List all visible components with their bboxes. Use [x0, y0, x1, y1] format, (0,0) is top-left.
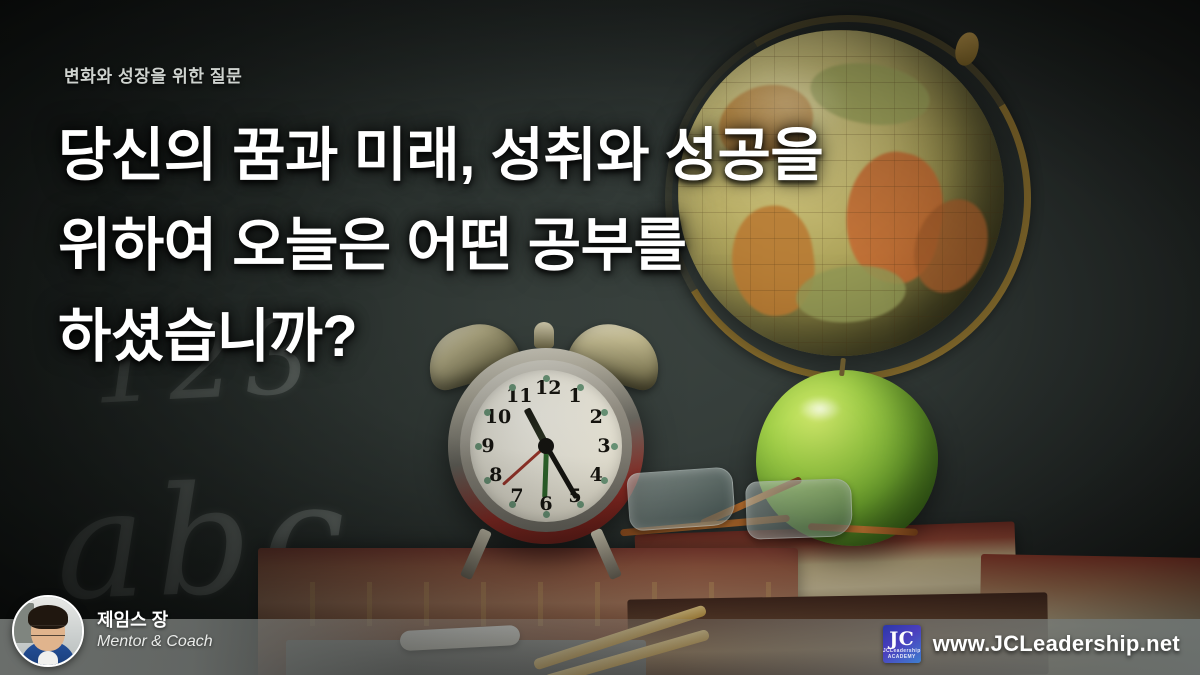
- clock-hour-dot: [601, 477, 608, 484]
- clock-hour-dot: [475, 443, 482, 450]
- headline-line-1: 당신의 꿈과 미래, 성취와 성공을: [58, 122, 1118, 190]
- apple-highlight: [798, 396, 842, 422]
- footer-bar: 제임스 장 Mentor & Coach JC JCLeadership ACA…: [0, 619, 1200, 675]
- quote-card: 123 abc: [0, 0, 1200, 675]
- avatar-glasses-icon: [31, 625, 65, 636]
- logo-subtext: JCLeadership ACADEMY: [883, 648, 921, 660]
- avatar-collar: [38, 651, 58, 667]
- clock-hour-dot: [484, 409, 491, 416]
- jc-leadership-logo-icon[interactable]: JC JCLeadership ACADEMY: [883, 625, 921, 663]
- clock-foot: [460, 528, 492, 580]
- glasses-lens: [626, 466, 736, 531]
- avatar: [12, 595, 84, 667]
- clock-hour-dot: [577, 501, 584, 508]
- logo-monogram: JC: [883, 628, 921, 650]
- brand-block[interactable]: JC JCLeadership ACADEMY www.JCLeadership…: [883, 625, 1180, 663]
- clock-hour-dot: [543, 511, 550, 518]
- clock-center-cap: [538, 438, 554, 454]
- headline-line-3: 하셨습니까?: [58, 303, 1118, 371]
- author-role: Mentor & Coach: [97, 633, 213, 652]
- clock-hour-dot: [509, 501, 516, 508]
- glasses-lens: [745, 478, 853, 540]
- author-name: 제임스 장: [97, 610, 213, 631]
- clock-foot: [590, 528, 622, 580]
- headline: 당신의 꿈과 미래, 성취와 성공을위하여 오늘은 어떤 공부를하셨습니까?: [58, 122, 1118, 393]
- author-text: 제임스 장 Mentor & Coach: [97, 610, 213, 652]
- eyeglasses-icon: [620, 470, 920, 548]
- website-url[interactable]: www.JCLeadership.net: [933, 631, 1180, 657]
- logo-subtext-line2: ACADEMY: [888, 654, 916, 660]
- clock-hour-dot: [484, 477, 491, 484]
- headline-line-2: 위하여 오늘은 어떤 공부를: [58, 212, 1118, 280]
- clock-hour-dot: [611, 443, 618, 450]
- author-block: 제임스 장 Mentor & Coach: [12, 595, 213, 667]
- eyebrow-label: 변화와 성장을 위한 질문: [64, 62, 242, 87]
- clock-hour-dot: [601, 409, 608, 416]
